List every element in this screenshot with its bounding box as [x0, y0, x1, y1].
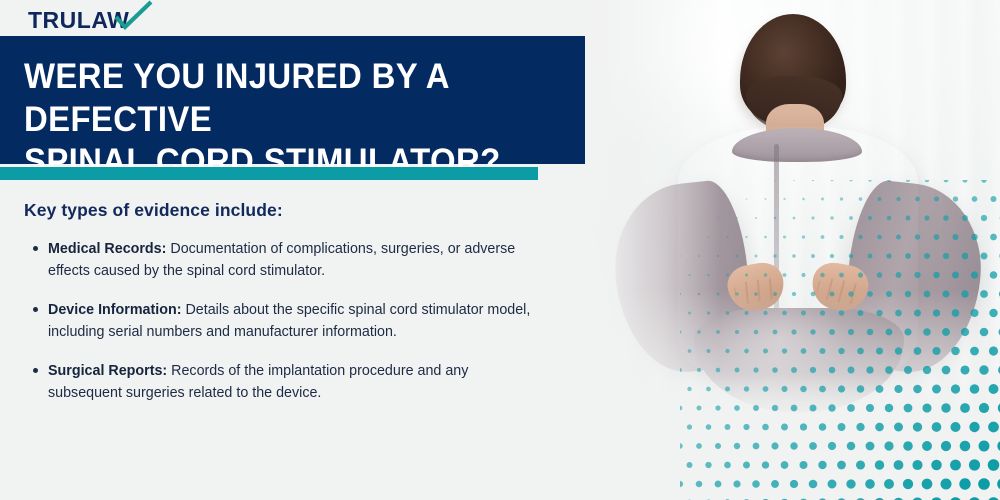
- list-item-label: Device Information:: [48, 302, 181, 318]
- list-item: Surgical Reports: Records of the implant…: [24, 360, 536, 404]
- lead-text: Key types of evidence include:: [24, 200, 283, 221]
- list-item: Medical Records: Documentation of compli…: [24, 238, 536, 282]
- logo[interactable]: TRULAW: [28, 7, 129, 33]
- halftone-dot-decoration: [680, 180, 1000, 500]
- checkmark-icon: [114, 0, 154, 32]
- teal-accent-bar: [0, 167, 538, 180]
- promo-banner: TRULAW WERE YOU INJURED BY A DEFECTIVE S…: [0, 0, 1000, 500]
- list-item: Device Information: Details about the sp…: [24, 299, 536, 343]
- list-item-label: Surgical Reports:: [48, 363, 167, 379]
- headline-line-1: WERE YOU INJURED BY A DEFECTIVE: [24, 56, 536, 141]
- headline-block: WERE YOU INJURED BY A DEFECTIVE SPINAL C…: [0, 36, 585, 164]
- page-title: WERE YOU INJURED BY A DEFECTIVE SPINAL C…: [24, 56, 536, 184]
- evidence-list: Medical Records: Documentation of compli…: [24, 238, 536, 421]
- list-item-label: Medical Records:: [48, 241, 166, 257]
